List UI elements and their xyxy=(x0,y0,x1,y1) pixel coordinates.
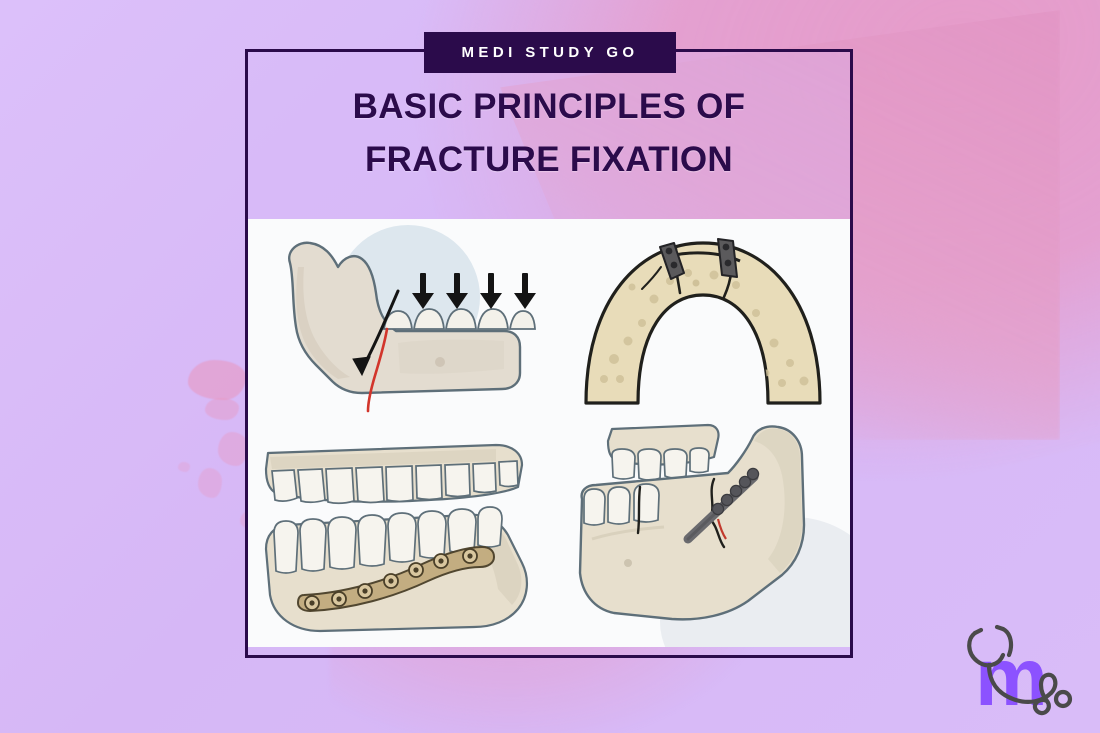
poster-canvas: MEDI STUDY GO BASIC PRINCIPLES OF FRACTU… xyxy=(0,0,1100,733)
figure-mandible-angle-lag-screw xyxy=(568,415,840,643)
figure-mandible-lateral-fracture xyxy=(258,223,548,433)
pink-splatter-4 xyxy=(198,468,222,498)
figure-open-jaw-bone-plate xyxy=(260,431,560,643)
pink-splatter-6 xyxy=(178,462,190,472)
title-line-1: BASIC PRINCIPLES OF xyxy=(248,80,850,133)
medi-study-go-logo: m xyxy=(963,617,1083,725)
figure-mandible-occlusal-miniplates xyxy=(568,227,838,409)
miniplate-right xyxy=(718,239,737,277)
pink-splatter-1 xyxy=(188,360,246,400)
pink-splatter-3 xyxy=(218,432,248,466)
illustration-panel xyxy=(248,219,850,647)
title-line-2: FRACTURE FIXATION xyxy=(248,133,850,186)
pink-splatter-2 xyxy=(205,398,239,420)
page-title: BASIC PRINCIPLES OF FRACTURE FIXATION xyxy=(248,80,850,186)
brand-badge: MEDI STUDY GO xyxy=(424,32,676,73)
brand-badge-label: MEDI STUDY GO xyxy=(462,44,639,61)
